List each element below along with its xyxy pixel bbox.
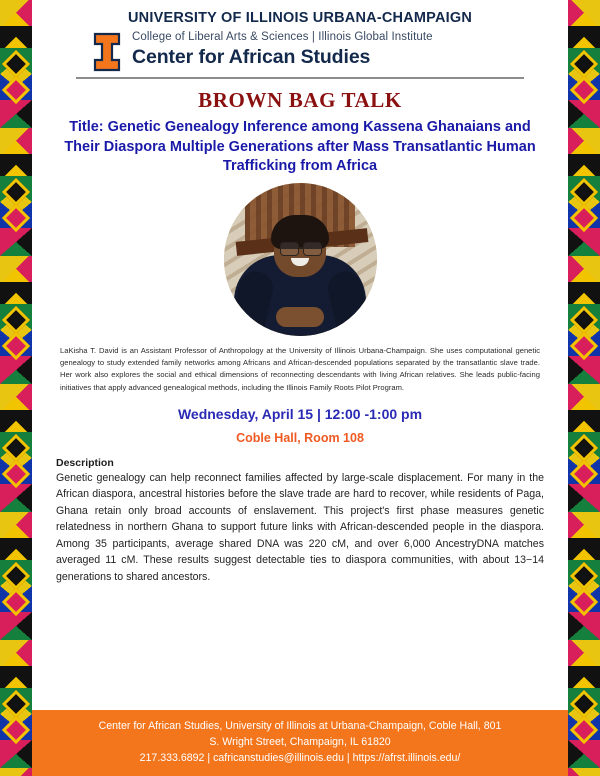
kente-band bbox=[0, 0, 32, 26]
kente-band bbox=[568, 356, 600, 384]
talk-title: Title: Genetic Genealogy Inference among… bbox=[58, 118, 542, 177]
kente-band bbox=[568, 512, 600, 538]
kente-band bbox=[568, 282, 600, 304]
footer-contact-line[interactable]: 217.333.6892 | cafricanstudies@illinois.… bbox=[32, 751, 568, 767]
speaker-portrait bbox=[224, 183, 377, 336]
poster: UNIVERSITY OF ILLINOIS URBANA-CHAMPAIGN … bbox=[0, 0, 600, 776]
kente-tile bbox=[568, 128, 600, 256]
speaker-bio: LaKisha T. David is an Assistant Profess… bbox=[60, 345, 540, 394]
kente-border-left bbox=[0, 0, 32, 776]
kente-tile bbox=[0, 256, 32, 384]
description-section: Description Genetic genealogy can help r… bbox=[56, 457, 544, 586]
event-datetime: Wednesday, April 15 | 12:00 -1:00 pm bbox=[32, 406, 568, 422]
kente-tile bbox=[0, 512, 32, 640]
kente-band bbox=[0, 768, 32, 776]
kente-band bbox=[0, 128, 32, 154]
kente-band bbox=[0, 666, 32, 688]
brand-row: College of Liberal Arts & Sciences | Ill… bbox=[56, 30, 544, 72]
kente-band bbox=[0, 256, 32, 282]
kente-tile bbox=[568, 640, 600, 768]
kente-tile bbox=[568, 768, 600, 776]
kente-band bbox=[568, 768, 600, 776]
brown-bag-talk-kicker: BROWN BAG TALK bbox=[58, 88, 542, 113]
portrait-glasses-right bbox=[303, 242, 322, 256]
kente-band bbox=[0, 538, 32, 560]
kente-band bbox=[568, 538, 600, 560]
illinois-block-i-icon bbox=[92, 32, 122, 72]
portrait-glasses-left bbox=[280, 242, 299, 256]
footer-address-line-2: S. Wright Street, Champaign, IL 61820 bbox=[32, 735, 568, 751]
event-location: Coble Hall, Room 108 bbox=[32, 431, 568, 445]
portrait-glasses-bridge bbox=[298, 247, 303, 249]
kente-tile bbox=[568, 0, 600, 128]
kente-band bbox=[568, 128, 600, 154]
kente-band bbox=[0, 410, 32, 432]
kente-band bbox=[0, 612, 32, 640]
kente-band bbox=[0, 484, 32, 512]
kente-band bbox=[568, 228, 600, 256]
kente-band bbox=[568, 612, 600, 640]
poster-footer: Center for African Studies, University o… bbox=[32, 710, 568, 776]
college-line: College of Liberal Arts & Sciences | Ill… bbox=[132, 31, 544, 43]
kente-tile bbox=[568, 384, 600, 512]
kente-band bbox=[568, 100, 600, 128]
kente-band bbox=[0, 26, 32, 48]
portrait-wrapper bbox=[32, 183, 568, 336]
branding-header: UNIVERSITY OF ILLINOIS URBANA-CHAMPAIGN … bbox=[32, 0, 568, 79]
description-heading: Description bbox=[56, 457, 544, 469]
kente-band bbox=[568, 26, 600, 48]
kente-tile bbox=[568, 256, 600, 384]
kente-tile bbox=[0, 128, 32, 256]
kente-band bbox=[0, 740, 32, 768]
kente-border-right bbox=[568, 0, 600, 776]
kente-band bbox=[568, 484, 600, 512]
kente-band bbox=[0, 100, 32, 128]
kente-tile bbox=[568, 512, 600, 640]
portrait-hands bbox=[276, 307, 324, 327]
kente-band bbox=[0, 384, 32, 410]
kente-band bbox=[568, 410, 600, 432]
kente-band bbox=[0, 512, 32, 538]
kente-band bbox=[568, 154, 600, 176]
kente-band bbox=[568, 640, 600, 666]
kente-band bbox=[0, 282, 32, 304]
kente-band bbox=[568, 740, 600, 768]
center-name: Center for African Studies bbox=[132, 46, 544, 69]
kente-tile bbox=[0, 640, 32, 768]
kente-band bbox=[568, 0, 600, 26]
kente-band bbox=[568, 256, 600, 282]
poster-content: UNIVERSITY OF ILLINOIS URBANA-CHAMPAIGN … bbox=[32, 0, 568, 776]
footer-address-line-1: Center for African Studies, University o… bbox=[32, 719, 568, 735]
talk-heading-block: BROWN BAG TALK Title: Genetic Genealogy … bbox=[32, 79, 568, 177]
kente-band bbox=[0, 154, 32, 176]
kente-band bbox=[0, 356, 32, 384]
kente-tile bbox=[0, 0, 32, 128]
kente-band bbox=[568, 666, 600, 688]
kente-band bbox=[568, 384, 600, 410]
kente-tile bbox=[0, 768, 32, 776]
kente-band bbox=[0, 228, 32, 256]
kente-tile bbox=[0, 384, 32, 512]
kente-band bbox=[0, 640, 32, 666]
description-body: Genetic genealogy can help reconnect fam… bbox=[56, 470, 544, 586]
university-name: UNIVERSITY OF ILLINOIS URBANA-CHAMPAIGN bbox=[56, 10, 544, 26]
brand-text-lines: College of Liberal Arts & Sciences | Ill… bbox=[132, 30, 544, 69]
